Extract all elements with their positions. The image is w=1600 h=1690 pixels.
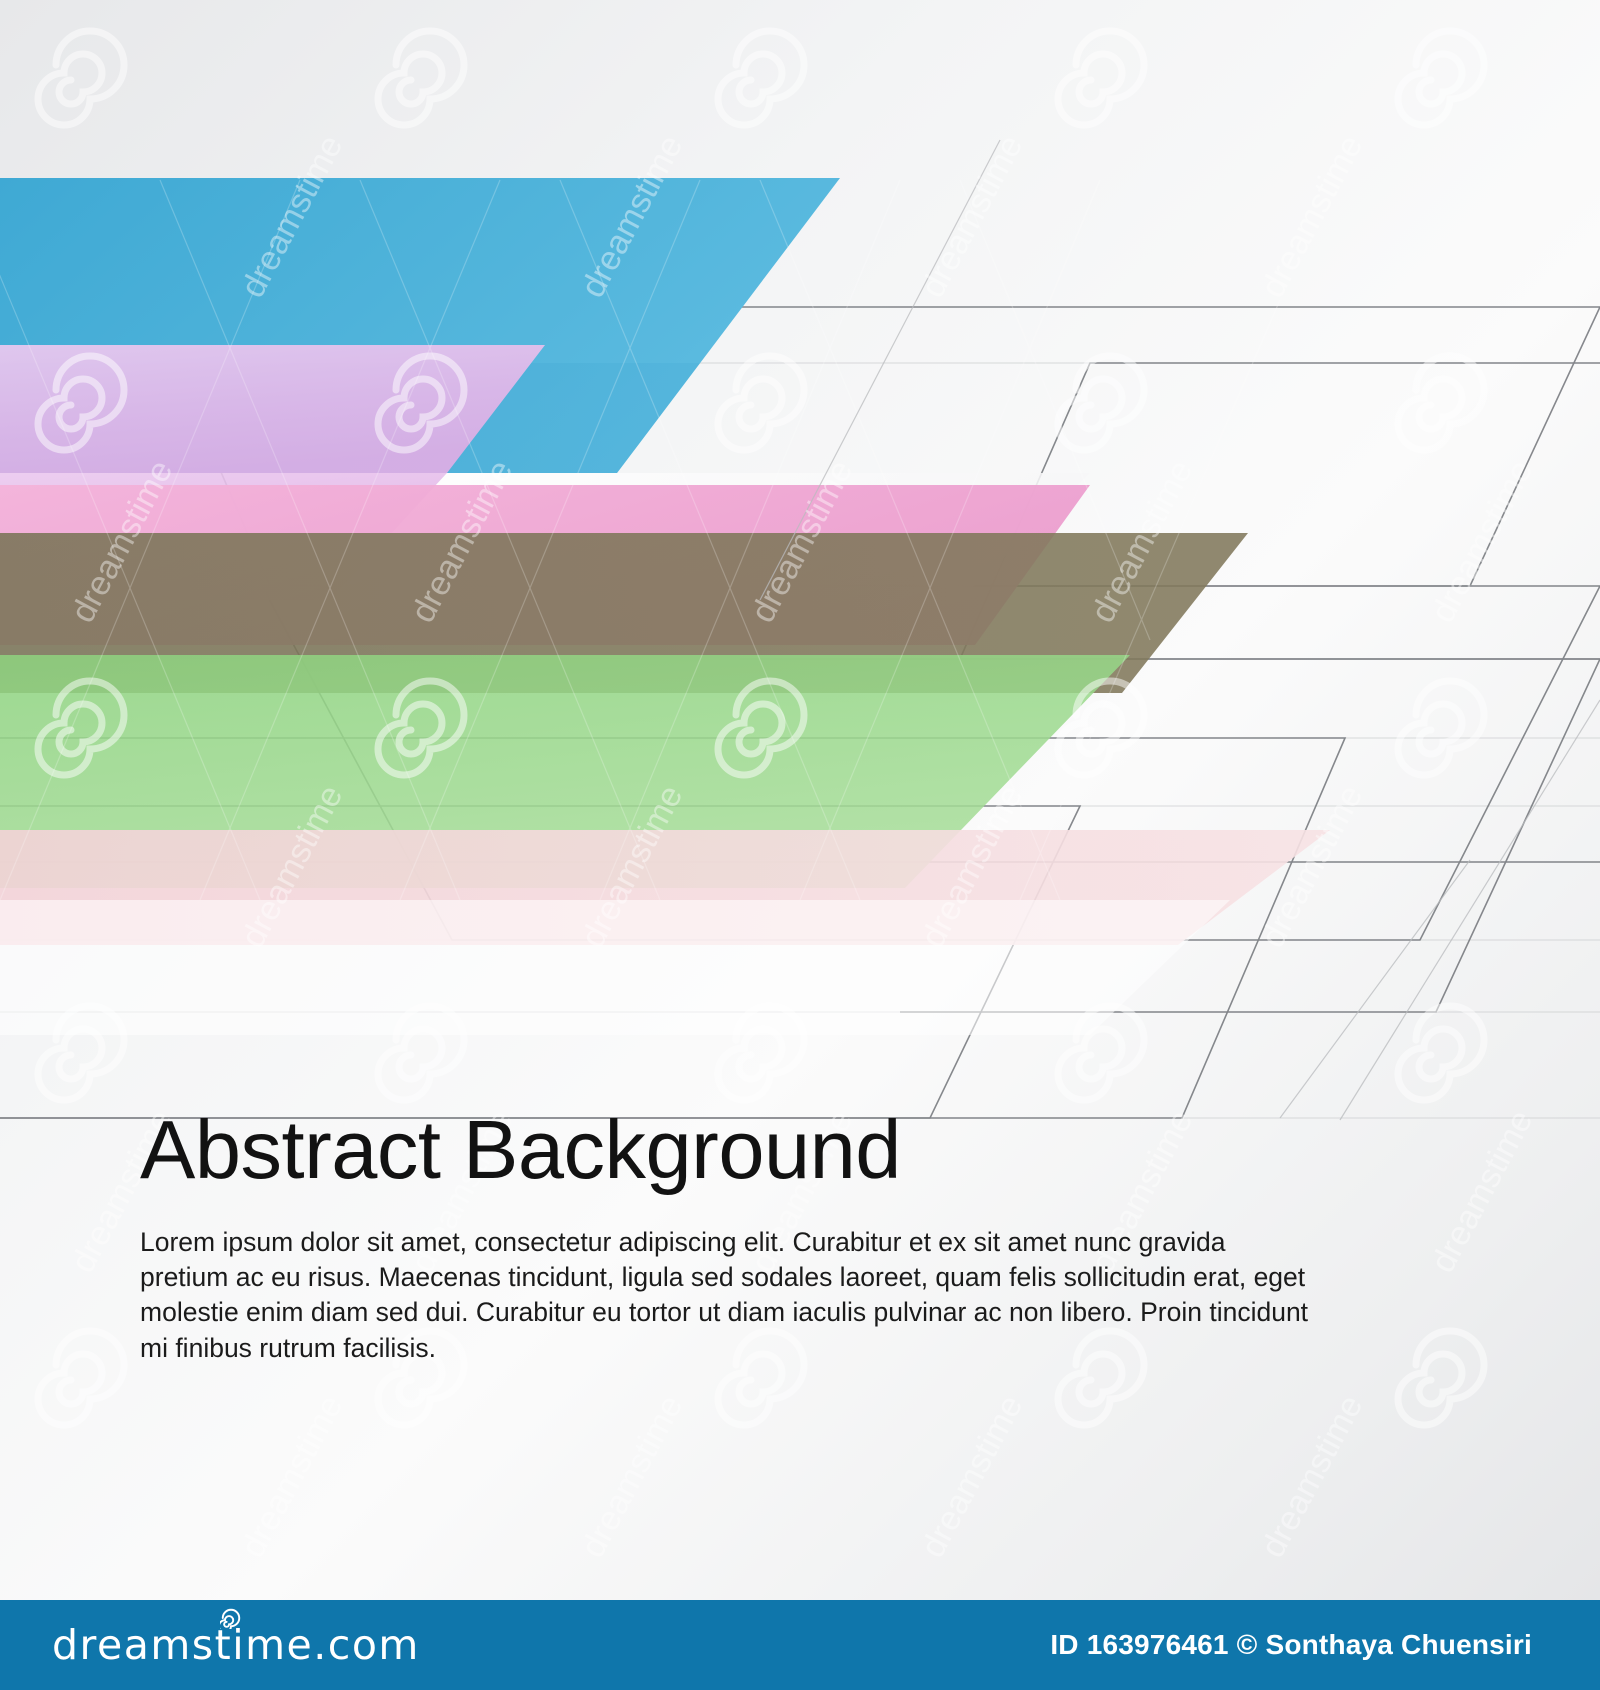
page-title: Abstract Background [140, 1108, 1340, 1191]
stock-footer-bar: dreamstime.com ID 163976461 © Sonthaya C… [0, 1600, 1600, 1690]
body-paragraph: Lorem ipsum dolor sit amet, consectetur … [140, 1225, 1315, 1366]
image-credit: ID 163976461 © Sonthaya Chuensiri [1050, 1629, 1570, 1661]
stock-photo-page: dreamstime dreamstime dreamstime dreamst… [0, 0, 1600, 1690]
artwork-canvas: dreamstime dreamstime dreamstime dreamst… [0, 0, 1600, 1600]
shape-pale-sheet [0, 900, 1230, 1035]
spiral-icon [220, 1607, 242, 1629]
dreamstime-logo[interactable]: dreamstime.com [52, 1621, 420, 1669]
caption-block: Abstract Background Lorem ipsum dolor si… [140, 1108, 1340, 1366]
